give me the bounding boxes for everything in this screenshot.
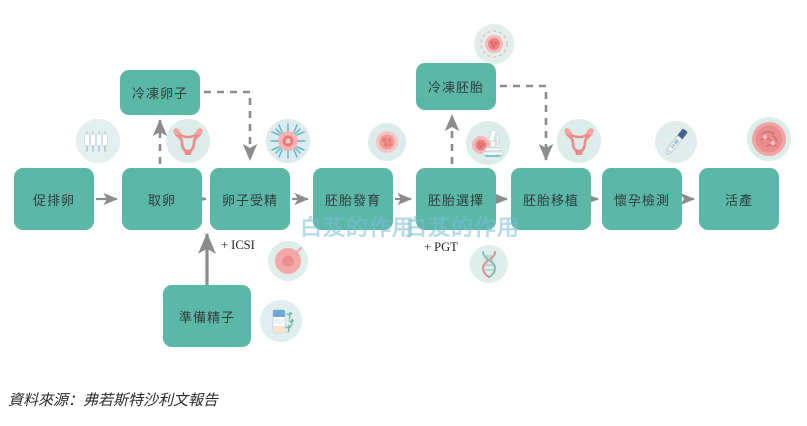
flow-box-embryo-transfer[interactable]: 胚胎移植: [511, 168, 591, 230]
flow-box-egg-retrieval[interactable]: 取卵: [122, 168, 202, 230]
flow-diagram-canvas: 促排卵 取卵 卵子受精 胚胎發育 胚胎選擇 胚胎移植 懷孕檢測 活產 冷凍卵子 …: [0, 0, 807, 426]
newborn-baby-icon: [747, 117, 791, 161]
annotation-icsi: + ICSI: [221, 238, 255, 253]
flow-box-label: 取卵: [148, 190, 176, 209]
flow-box-label: 胚胎移植: [523, 190, 579, 209]
flow-box-pregnancy-test[interactable]: 懷孕檢測: [602, 168, 682, 230]
embryo-cell-icon: [368, 123, 406, 161]
frozen-embryo-cell-icon: [474, 24, 514, 64]
pregnancy-test-stick-icon: [655, 121, 697, 163]
branch-box-label: 冷凍胚胎: [428, 77, 484, 96]
branch-box-frozen-embryo[interactable]: 冷凍胚胎: [416, 63, 496, 110]
flow-box-embryo-selection[interactable]: 胚胎選擇: [416, 168, 496, 230]
dna-helix-icon: [470, 245, 508, 283]
flow-box-label: 促排卵: [33, 190, 75, 209]
flow-box-label: 活產: [725, 190, 753, 209]
fertilized-ovum-icon: [268, 241, 308, 281]
flow-box-fertilization[interactable]: 卵子受精: [210, 168, 290, 230]
flow-box-label: 胚胎選擇: [428, 190, 484, 209]
semen-sample-container-icon: [260, 300, 302, 342]
uterus-ovaries-icon: [166, 119, 210, 163]
branch-box-frozen-eggs[interactable]: 冷凍卵子: [120, 70, 200, 115]
flow-box-stimulation[interactable]: 促排卵: [14, 168, 94, 230]
flow-box-label: 胚胎發育: [325, 190, 381, 209]
syringes-icon: [76, 119, 120, 163]
sperm-fertilizing-egg-icon: [266, 119, 310, 163]
uterus-transfer-icon: [557, 119, 601, 163]
microscope-embryo-icon: [466, 121, 510, 165]
flow-box-label: 懷孕檢測: [614, 190, 670, 209]
branch-box-sperm-prep[interactable]: 準備精子: [163, 285, 251, 347]
flow-box-label: 卵子受精: [222, 190, 278, 209]
annotation-pgt: + PGT: [424, 240, 458, 255]
flow-box-live-birth[interactable]: 活產: [699, 168, 779, 230]
branch-box-label: 冷凍卵子: [132, 83, 188, 102]
source-note: 資料來源：弗若斯特沙利文報告: [8, 389, 218, 410]
flow-box-embryo-development[interactable]: 胚胎發育: [313, 168, 393, 230]
branch-box-label: 準備精子: [179, 307, 235, 326]
